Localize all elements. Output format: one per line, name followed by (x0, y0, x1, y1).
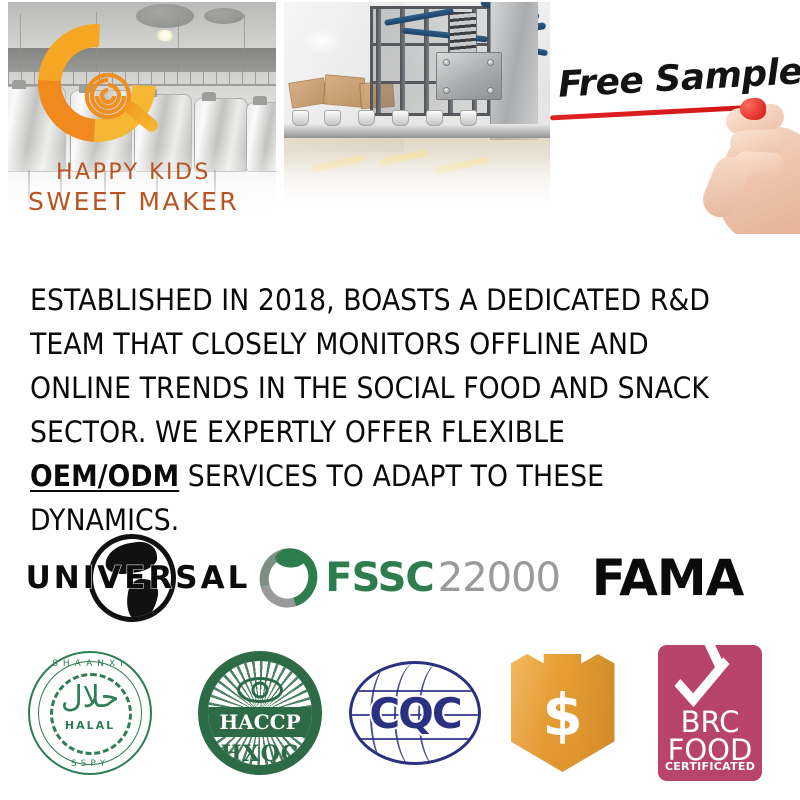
haccp-eye-seal-icon: HACCP HXQC (198, 651, 322, 775)
description-paragraph: ESTABLISHED IN 2018, BOASTS A DEDICATED … (30, 278, 714, 542)
machine-post (400, 9, 405, 113)
product-cup (358, 110, 375, 126)
certification-logos-row-2: SHAANXI حلال HALAL SSPY HACCP HXQC (0, 638, 800, 788)
halal-arabic-text: حلال (30, 683, 150, 713)
product-cup (324, 110, 341, 126)
brand-line-1: HAPPY KIDS (28, 160, 268, 187)
product-cup (460, 110, 477, 126)
halal-seal-icon: SHAANXI حلال HALAL SSPY (28, 651, 152, 775)
hand-holding-marker-icon (700, 102, 800, 234)
product-cup (392, 110, 409, 126)
haccp-label: HACCP (219, 710, 300, 734)
carton-box (288, 77, 328, 108)
haccp-band: HACCP (208, 707, 312, 737)
filling-machine-photo (284, 2, 550, 234)
bolt-icon (443, 59, 450, 66)
logo-brc-food: BRC FOOD CERTIFICATED (635, 641, 785, 785)
photo-fade-overlay (284, 156, 550, 234)
hanger-wire (178, 16, 179, 72)
product-cup (292, 110, 309, 126)
wall-glare (302, 28, 342, 54)
company-description: ESTABLISHED IN 2018, BOASTS A DEDICATED … (30, 278, 774, 542)
fssc-number: 22000 (438, 555, 560, 601)
logo-universal: UNIVERSAL (18, 532, 258, 624)
spiral-candy-icon (84, 72, 132, 120)
checkmark-icon (675, 645, 730, 707)
brand-line-2: SWEET MAKER (28, 187, 268, 218)
bolt-icon (487, 87, 494, 94)
oem-odm-emphasis: OEM/ODM (30, 459, 179, 493)
halal-bottom-arc-text: SSPY (30, 759, 150, 769)
fssc-wordmark: FSSC (325, 555, 434, 601)
halal-top-arc-text: SHAANXI (30, 659, 150, 669)
certification-logos-row-1: UNIVERSAL FSSC 22000 FAMA (0, 528, 800, 628)
ceiling-duct-icon (204, 8, 244, 24)
description-part-1: ESTABLISHED IN 2018, BOASTS A DEDICATED … (30, 283, 710, 449)
brand-logo (38, 24, 168, 152)
factory-tanks-photo: HAPPY KIDS SWEET MAKER (8, 2, 276, 234)
free-sample-graphic: Free Sample (550, 2, 800, 234)
brc-check-icon: BRC FOOD CERTIFICATED (658, 645, 762, 781)
logo-payment-guarantee: $ (490, 643, 635, 783)
cqc-globe-icon: CQC (349, 661, 481, 765)
hanger-wire (244, 14, 245, 72)
logo-cqc: CQC (340, 643, 490, 783)
gold-shield-dollar-icon: $ (511, 654, 615, 772)
logo-fssc-22000: FSSC 22000 (260, 532, 560, 624)
bolt-icon (443, 87, 450, 94)
brand-wordmark: HAPPY KIDS SWEET MAKER (28, 160, 268, 217)
hxqc-label: HXQC (208, 741, 312, 767)
product-cup (426, 110, 443, 126)
universal-wordmark: UNIVERSAL (26, 560, 251, 596)
red-marker-icon (740, 98, 766, 120)
logo-halal: SHAANXI حلال HALAL SSPY (0, 643, 180, 783)
swirl-leaf-icon (249, 538, 328, 618)
fama-wordmark: FAMA (592, 549, 744, 607)
logo-haccp: HACCP HXQC (180, 643, 340, 783)
free-sample-text: Free Sample (557, 51, 800, 106)
hanger-wire (20, 14, 21, 72)
brc-line-3: CERTIFICATED (658, 760, 762, 773)
eye-pupil (252, 682, 269, 699)
dollar-symbol: $ (542, 686, 582, 744)
machine-post (424, 9, 429, 113)
halal-label: HALAL (30, 719, 150, 732)
hero-image-strip: HAPPY KIDS SWEET MAKER (0, 0, 800, 250)
conveyor-belt (284, 124, 550, 138)
valve-block (436, 52, 502, 100)
globe-parallel (350, 738, 481, 740)
machine-post (376, 9, 381, 113)
cqc-wordmark: CQC (369, 689, 460, 738)
bolt-icon (487, 59, 494, 66)
coil-spring (450, 12, 476, 56)
logo-fama: FAMA (560, 532, 775, 624)
product-detail-banner: HAPPY KIDS SWEET MAKER (0, 0, 800, 800)
eye-icon (237, 677, 283, 703)
